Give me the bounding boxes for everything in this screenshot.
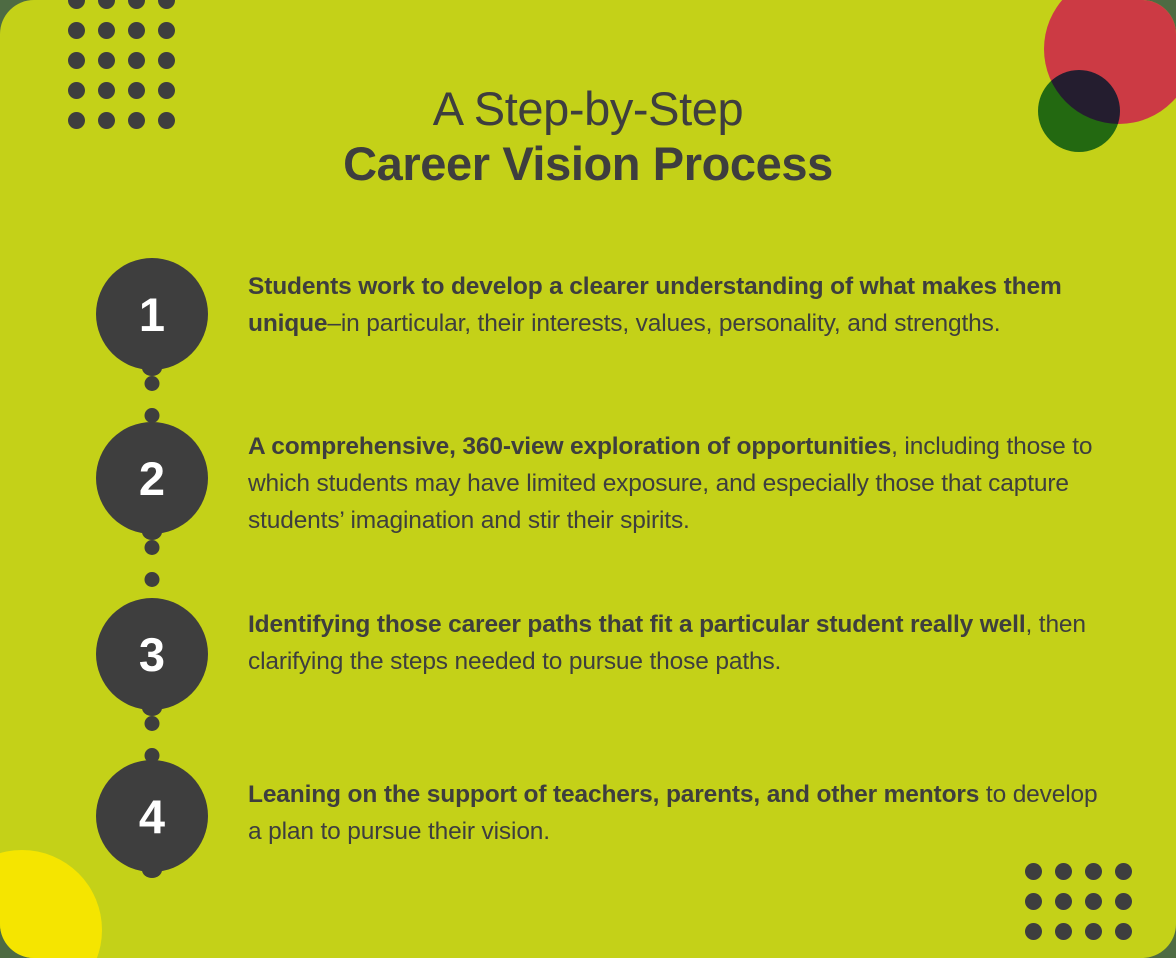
- step-description-bold: Identifying those career paths that fit …: [248, 611, 1025, 638]
- page-title-line-2: Career Vision Process: [0, 137, 1176, 192]
- grid-dot: [1085, 923, 1102, 940]
- step-item: 1 Students work to develop a clearer und…: [96, 258, 1116, 422]
- grid-dot: [128, 0, 145, 9]
- steps-list: 1 Students work to develop a clearer und…: [96, 258, 1116, 872]
- grid-dot: [128, 22, 145, 39]
- connector-dot: [145, 408, 160, 423]
- step-connector-dots: [145, 716, 160, 763]
- step-marker: 1: [96, 258, 208, 370]
- grid-dot: [98, 0, 115, 9]
- step-description-rest: –in particular, their interests, values,…: [327, 310, 1000, 337]
- grid-dot: [1025, 893, 1042, 910]
- step-marker: 3: [96, 598, 208, 710]
- step-description: Students work to develop a clearer under…: [208, 258, 1116, 342]
- dot-grid-bottom-right-decoration: [1025, 863, 1132, 940]
- step-item: 4 Leaning on the support of teachers, pa…: [96, 760, 1116, 872]
- connector-dot: [145, 376, 160, 391]
- grid-dot: [1115, 923, 1132, 940]
- grid-dot: [98, 22, 115, 39]
- page-title: A Step-by-Step Career Vision Process: [0, 82, 1176, 192]
- grid-dot: [1025, 923, 1042, 940]
- step-number-badge: 3: [96, 598, 208, 710]
- step-item: 2 A comprehensive, 360-view exploration …: [96, 422, 1116, 598]
- step-description: A comprehensive, 360-view exploration of…: [208, 422, 1116, 540]
- grid-dot: [158, 52, 175, 69]
- step-number-badge: 4: [96, 760, 208, 872]
- grid-dot: [68, 52, 85, 69]
- grid-dot: [1055, 893, 1072, 910]
- page-title-line-1: A Step-by-Step: [0, 82, 1176, 137]
- grid-dot: [1115, 893, 1132, 910]
- step-item: 3 Identifying those career paths that fi…: [96, 598, 1116, 760]
- step-description: Identifying those career paths that fit …: [208, 598, 1116, 680]
- step-number-badge: 2: [96, 422, 208, 534]
- step-description-bold: A comprehensive, 360-view exploration of…: [248, 433, 891, 460]
- yellow-circle-decoration: [0, 850, 102, 958]
- grid-dot: [158, 0, 175, 9]
- infographic-card: A Step-by-Step Career Vision Process 1 S…: [0, 0, 1176, 958]
- step-marker: 2: [96, 422, 208, 534]
- grid-dot: [68, 0, 85, 9]
- grid-dot: [68, 22, 85, 39]
- step-connector-dots: [145, 376, 160, 423]
- step-marker: 4: [96, 760, 208, 872]
- connector-dot: [145, 540, 160, 555]
- connector-dot: [145, 572, 160, 587]
- step-description: Leaning on the support of teachers, pare…: [208, 760, 1116, 850]
- grid-dot: [98, 52, 115, 69]
- grid-dot: [128, 52, 145, 69]
- step-number-badge: 1: [96, 258, 208, 370]
- step-description-bold: Leaning on the support of teachers, pare…: [248, 781, 979, 808]
- grid-dot: [1055, 923, 1072, 940]
- connector-dot: [145, 716, 160, 731]
- grid-dot: [1115, 863, 1132, 880]
- grid-dot: [1085, 893, 1102, 910]
- grid-dot: [158, 22, 175, 39]
